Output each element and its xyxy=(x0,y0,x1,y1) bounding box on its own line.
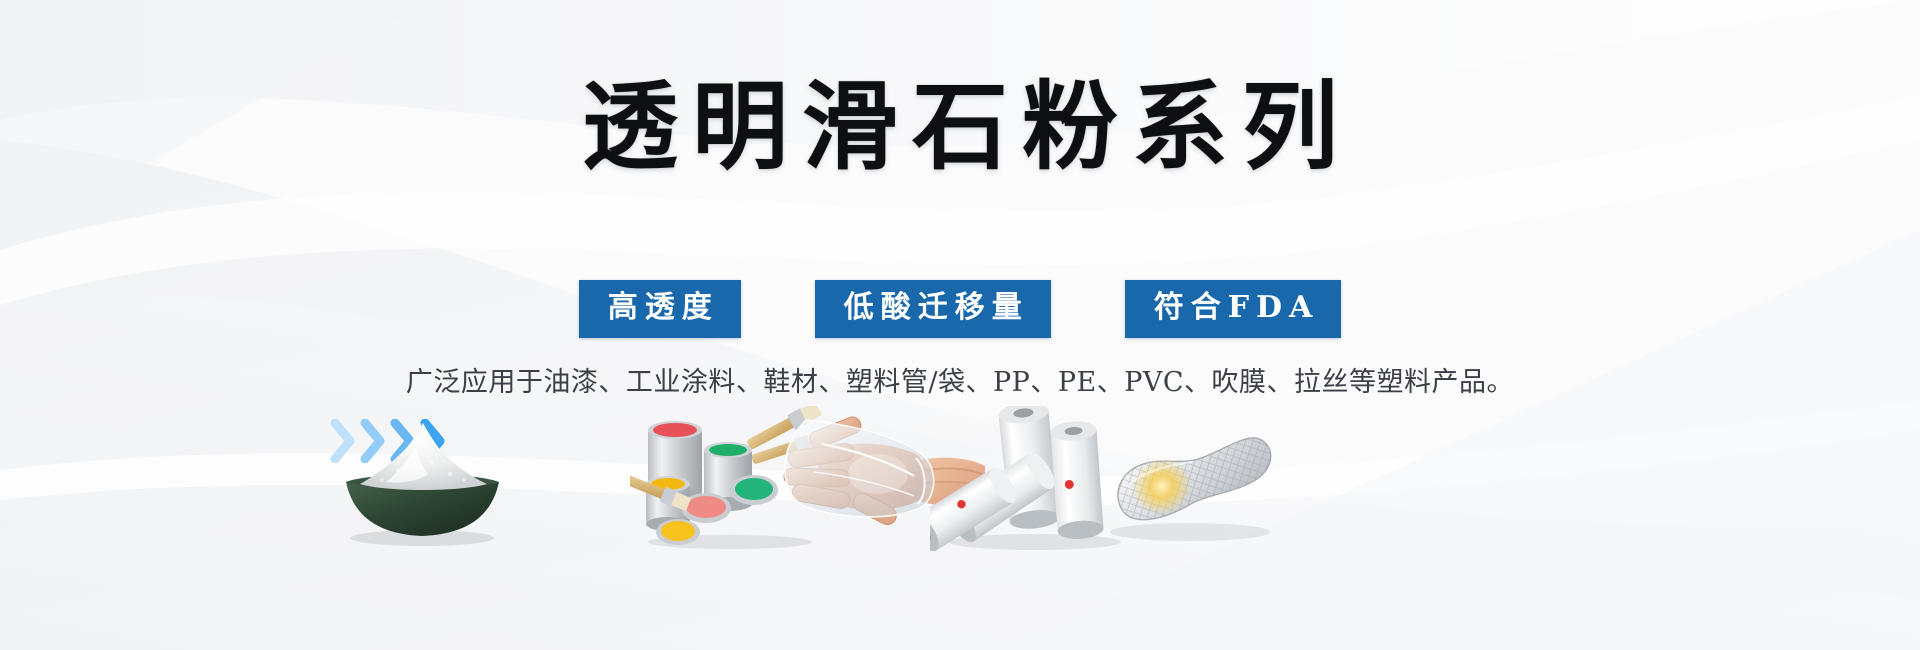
badge-fda-compliant: 符合FDA xyxy=(1125,280,1342,338)
product-banner: 透明滑石粉系列 高透度 低酸迁移量 符合FDA 广泛应用于油漆、工业涂料、鞋材、… xyxy=(0,0,1920,650)
page-title: 透明滑石粉系列 xyxy=(0,74,1920,180)
product-image-strip xyxy=(330,418,1590,548)
feature-badge-list: 高透度 低酸迁移量 符合FDA xyxy=(0,280,1920,338)
application-description: 广泛应用于油漆、工业涂料、鞋材、塑料管/袋、PP、PE、PVC、吹膜、拉丝等塑料… xyxy=(0,360,1920,399)
shoe-sole-image xyxy=(1090,404,1290,554)
badge-high-transparency: 高透度 xyxy=(579,280,741,338)
badge-low-acid-migration: 低酸迁移量 xyxy=(815,280,1051,338)
talc-powder-bowl-image xyxy=(330,410,515,550)
